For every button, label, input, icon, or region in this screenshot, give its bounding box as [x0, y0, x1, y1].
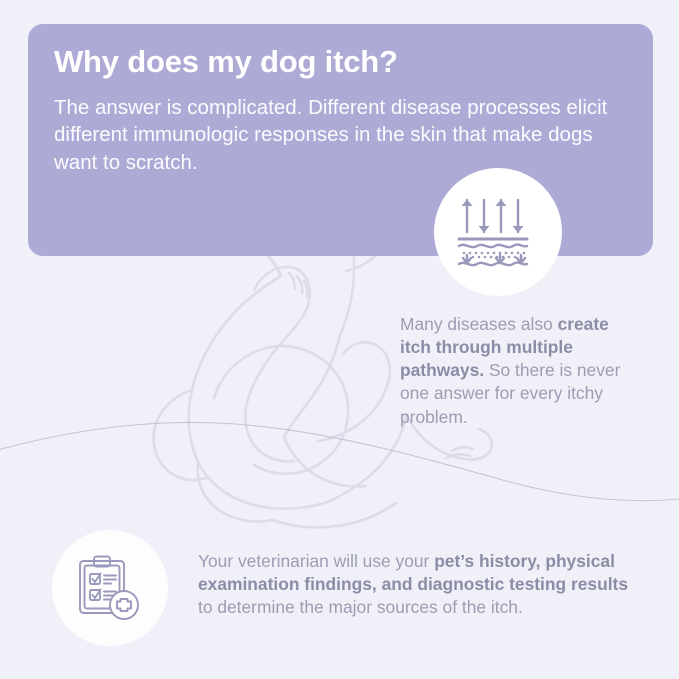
skin-barrier-icon-badge: [434, 168, 562, 296]
vet-text-part-2: to determine the major sources of the it…: [198, 597, 523, 617]
clipboard-icon-badge: [52, 530, 168, 646]
header-body-text: The answer is complicated. Different dis…: [54, 94, 627, 178]
vet-text-part-0: Your veterinarian will use your: [198, 551, 434, 571]
infographic-canvas: Why does my dog itch? The answer is comp…: [0, 0, 679, 679]
skin-barrier-arrows-icon: [457, 195, 539, 269]
pathways-text-part-0: Many diseases also: [400, 314, 558, 334]
page-title: Why does my dog itch?: [54, 44, 627, 81]
horizon-line: [0, 422, 679, 500]
diagnostics-callout-text: Your veterinarian will use your pet’s hi…: [198, 550, 630, 619]
pathways-callout-text: Many diseases also create itch through m…: [400, 313, 628, 429]
clipboard-checklist-medical-icon: [77, 554, 143, 622]
